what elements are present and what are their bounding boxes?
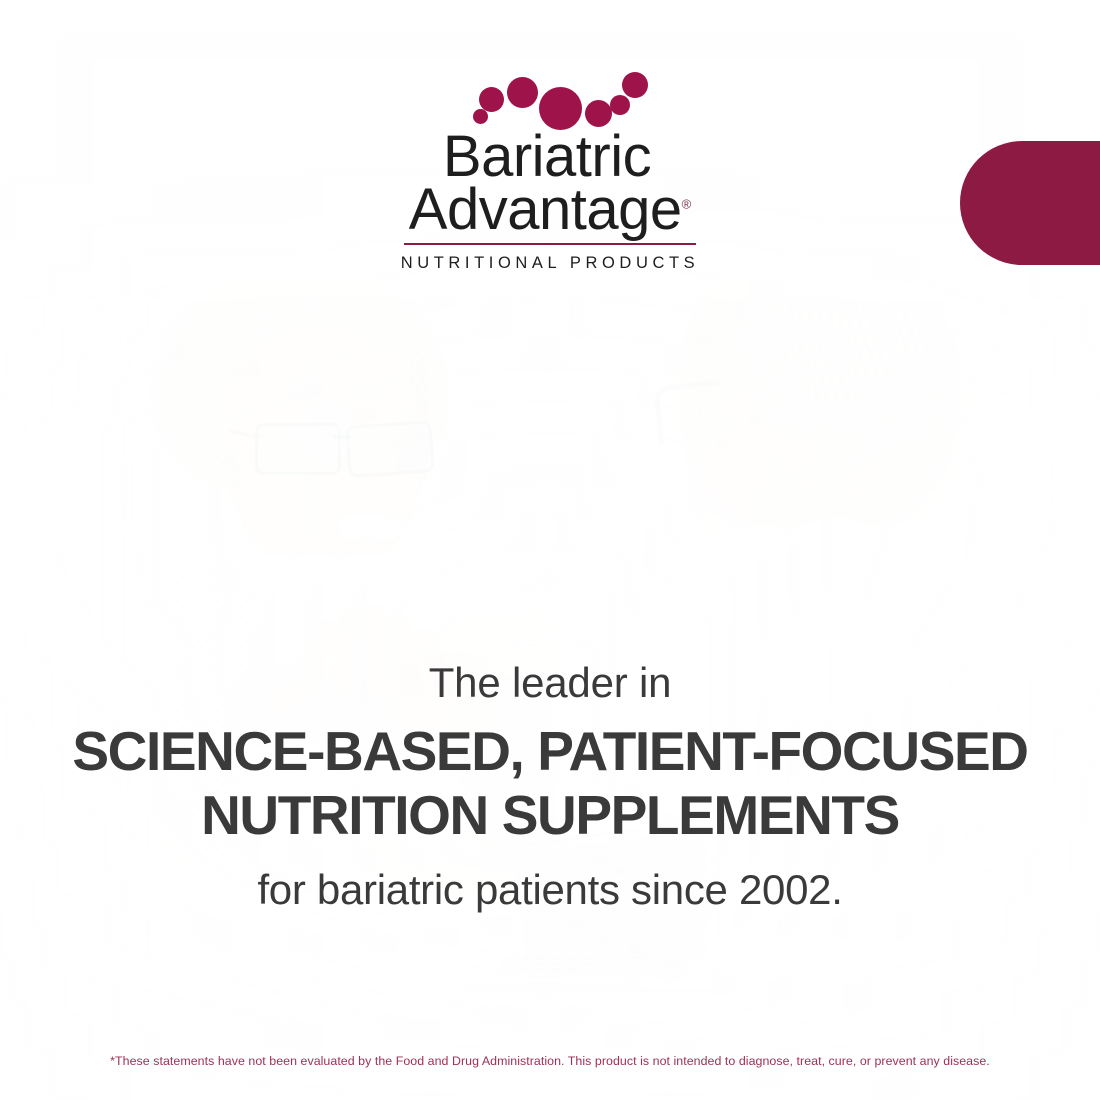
logo-dot (622, 72, 648, 98)
headline-block: The leader in SCIENCE-BASED, PATIENT-FOC… (0, 660, 1100, 914)
brand-logo: Bariatric Advantage® NUTRITIONAL PRODUCT… (0, 72, 1100, 273)
legal-disclaimer: *These statements have not been evaluate… (0, 1054, 1100, 1068)
brand-wordmark: Bariatric Advantage® (385, 130, 715, 237)
brand-name-line2: Advantage® (385, 183, 715, 236)
brand-name-line1: Bariatric (379, 130, 715, 183)
logo-dot (479, 87, 504, 112)
brand-name-line2-text: Advantage (409, 177, 682, 242)
banner-canvas: Bariatric Advantage® NUTRITIONAL PRODUCT… (0, 0, 1100, 1100)
logo-dot (585, 100, 612, 127)
headline-eyebrow: The leader in (0, 660, 1100, 706)
headline-line2: NUTRITION SUPPLEMENTS (0, 784, 1100, 848)
registered-trademark-icon: ® (682, 197, 692, 212)
headline-subline: for bariatric patients since 2002. (0, 866, 1100, 914)
logo-dot (473, 109, 488, 124)
logo-dot (507, 77, 538, 108)
brand-tagline: NUTRITIONAL PRODUCTS (385, 254, 715, 273)
logo-dot (610, 95, 630, 115)
headline-line1: SCIENCE-BASED, PATIENT-FOCUSED (72, 720, 1027, 782)
headline-main: SCIENCE-BASED, PATIENT-FOCUSED NUTRITION… (0, 720, 1100, 848)
logo-divider-rule (404, 243, 696, 246)
